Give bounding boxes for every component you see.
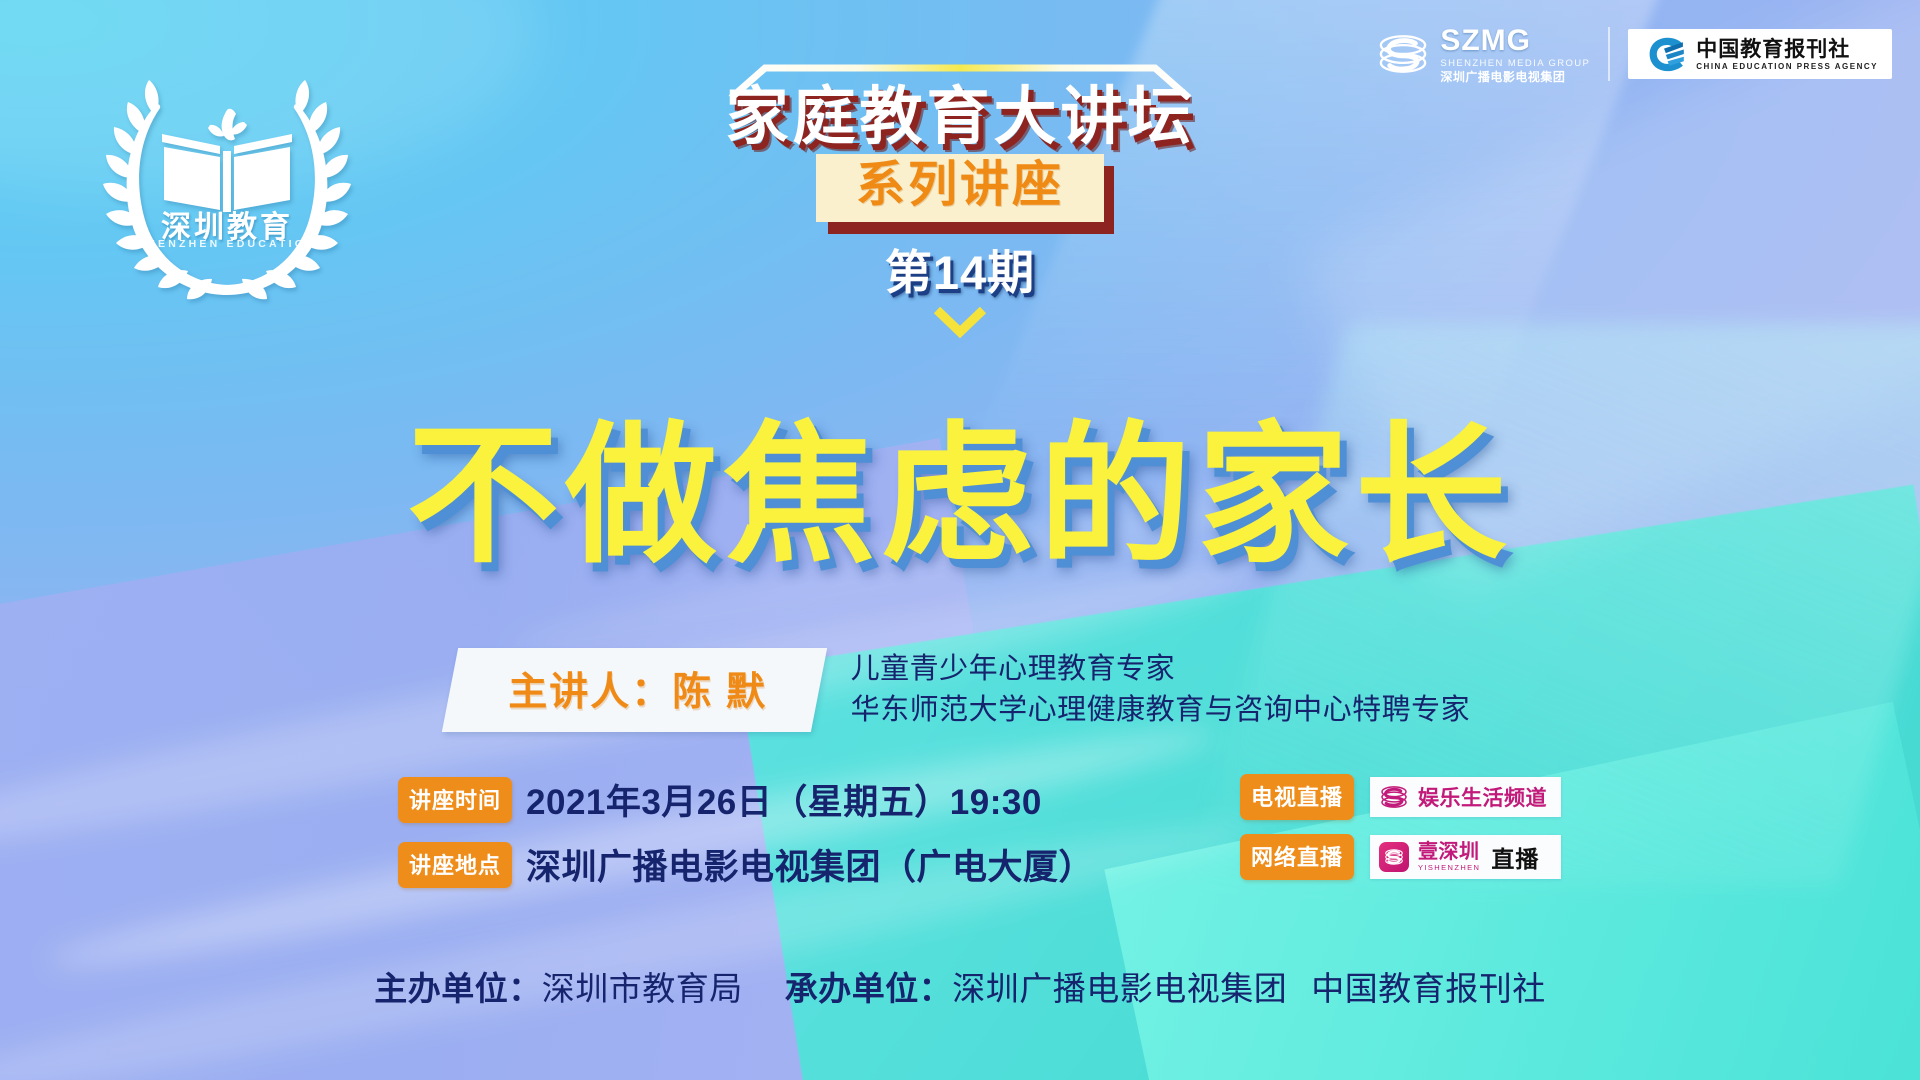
ribbon-body: 系列讲座 bbox=[816, 154, 1104, 222]
issue-number: 第14期 bbox=[0, 234, 1920, 303]
organizer-value: 深圳广播电影电视集团 bbox=[952, 970, 1287, 1007]
yishenzhen-brand-en: YISHENZHEN bbox=[1418, 864, 1480, 872]
web-live-suffix: 直播 bbox=[1491, 840, 1539, 874]
host-label: 主办单位： bbox=[374, 970, 542, 1007]
ribbon-label: 系列讲座 bbox=[832, 159, 1088, 213]
speaker-name-banner: 主讲人：陈 默 bbox=[442, 648, 827, 732]
title-frame bbox=[725, 62, 1195, 100]
host-value: 深圳市教育局 bbox=[542, 970, 743, 1007]
speaker-credentials: 儿童青少年心理教育专家 华东师范大学心理健康教育与咨询中心特聘专家 bbox=[851, 649, 1471, 731]
info-row-time: 讲座时间 2021年3月26日（星期五）19:30 bbox=[398, 774, 1094, 825]
time-value: 2021年3月26日（星期五）19:30 bbox=[526, 774, 1042, 825]
yishenzhen-swirl-glyph bbox=[1383, 846, 1405, 868]
szmg-name: SZMG bbox=[1440, 26, 1590, 56]
live-row-tv: 电视直播 娱乐生活频道 bbox=[1240, 774, 1561, 820]
chevron-down-icon bbox=[932, 305, 988, 339]
yishenzhen-brand: 壹深圳 YISHENZHEN bbox=[1418, 842, 1480, 872]
speaker-label: 主讲人：陈 默 bbox=[508, 661, 767, 717]
credential-line: 儿童青少年心理教育专家 bbox=[851, 649, 1471, 690]
live-row-web: 网络直播 壹深圳 YISHENZHEN 直播 bbox=[1240, 834, 1561, 880]
poster-canvas: 深圳教育 SHENZHEN EDUCATION SZMG SHENZHEN ME… bbox=[0, 0, 1920, 1080]
time-badge: 讲座时间 bbox=[398, 777, 512, 823]
yishenzhen-app-icon bbox=[1379, 842, 1409, 872]
info-row-location: 讲座地点 深圳广播电影电视集团（广电大厦） bbox=[398, 839, 1094, 890]
tv-live-badge: 电视直播 bbox=[1240, 774, 1354, 820]
organizer-label: 承办单位： bbox=[785, 970, 953, 1007]
location-badge: 讲座地点 bbox=[398, 842, 512, 888]
footer-organizers: 主办单位：深圳市教育局承办单位：深圳广播电影电视集团中国教育报刊社 bbox=[0, 962, 1920, 1010]
organizer-value-2: 中国教育报刊社 bbox=[1311, 970, 1546, 1007]
web-live-badge: 网络直播 bbox=[1240, 834, 1354, 880]
series-ribbon: 系列讲座 bbox=[816, 154, 1104, 222]
tv-channel-chip: 娱乐生活频道 bbox=[1370, 777, 1561, 817]
szmg-swirl-logo-icon bbox=[1379, 782, 1409, 812]
credential-line: 华东师范大学心理健康教育与咨询中心特聘专家 bbox=[851, 690, 1471, 731]
header-block: 家庭教育大讲坛 系列讲座 第14期 bbox=[0, 62, 1920, 344]
cepa-name-cn: 中国教育报刊社 bbox=[1696, 38, 1878, 59]
lecture-info: 讲座时间 2021年3月26日（星期五）19:30 讲座地点 深圳广播电影电视集… bbox=[398, 774, 1094, 904]
web-channel-chip: 壹深圳 YISHENZHEN 直播 bbox=[1370, 835, 1561, 879]
location-value: 深圳广播电影电视集团（广电大厦） bbox=[526, 839, 1094, 890]
trapezoid-frame-icon bbox=[725, 62, 1195, 100]
lecture-headline: 不做焦虑的家长 bbox=[0, 420, 1920, 572]
live-broadcast-section: 电视直播 娱乐生活频道 网络直播 bbox=[1240, 774, 1561, 894]
speaker-section: 主讲人：陈 默 儿童青少年心理教育专家 华东师范大学心理健康教育与咨询中心特聘专… bbox=[0, 648, 1920, 732]
yishenzhen-brand-cn: 壹深圳 bbox=[1418, 842, 1480, 862]
tv-channel-name: 娱乐生活频道 bbox=[1418, 782, 1547, 812]
